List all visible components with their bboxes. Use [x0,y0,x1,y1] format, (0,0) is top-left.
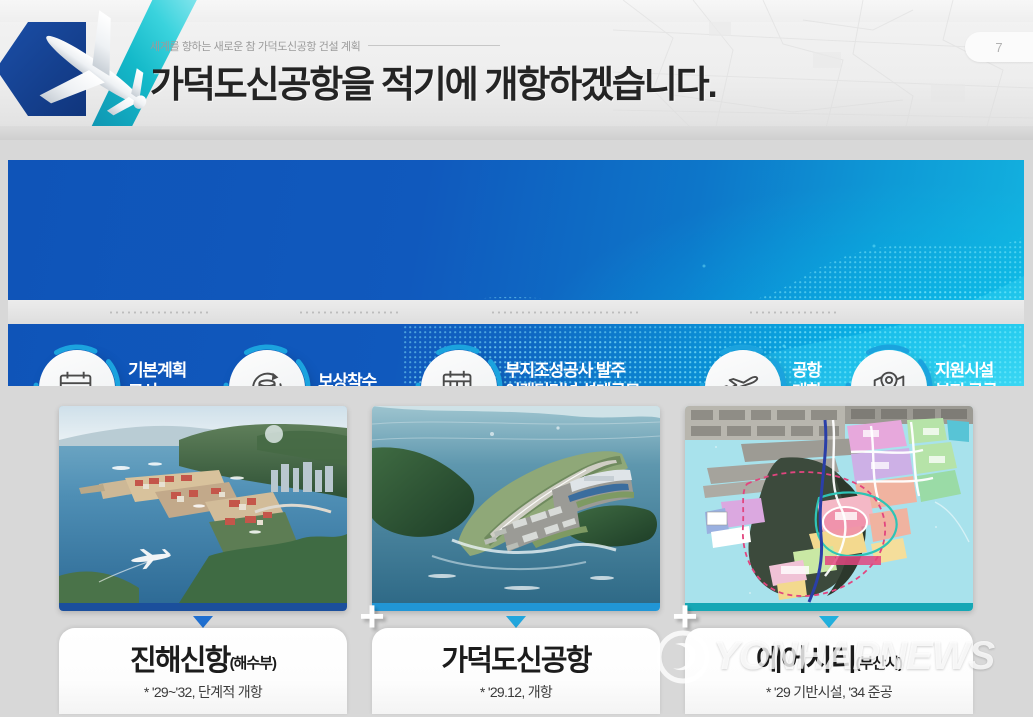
photo-underline [372,603,660,611]
page-title: 가덕도신공항을 적기에 개항하겠습니다. [150,54,716,108]
timeline-node-label: 공항 개항 [792,360,821,386]
air-city-landuse-map [685,406,973,603]
project-caption-note: * '29 기반시설, '34 준공 [685,682,973,702]
timeline-dot-segment [748,311,838,314]
photo-underline [59,603,347,611]
timeline-dot-segment [298,311,398,314]
project-caption-card[interactable]: 가덕도신공항 * '29.12, 개항 [372,628,660,714]
timeline-node-label: 지원시설 부지 공급 [935,360,997,386]
header-subtitle-rule [368,45,500,46]
caption-arrow [193,616,213,628]
header-subtitle: 세계를 향하는 새로운 참 가덕도신공항 건설 계획 [150,38,360,54]
timeline-node-badge[interactable] [229,350,305,386]
timeline-panel: 기본계획 고시 '23.末 [8,160,1024,386]
timeline-node-label: 보상착수 [318,371,376,386]
project-caption-title: 진해신항(해수부) [59,637,347,679]
caption-arrow [819,616,839,628]
project-photo-card[interactable] [59,406,347,611]
timeline-node-label: 기본계획 고시 [128,360,186,386]
timeline-wave-decoration [404,206,1024,386]
airplane-takeoff-icon [722,367,764,386]
jinhae-new-port-rendering [59,406,347,603]
header-bottom-divider [0,126,1033,140]
slide-root: 세계를 향하는 새로운 참 가덕도신공항 건설 계획 가덕도신공항을 적기에 개… [0,0,1033,717]
coins-cycle-icon [246,367,288,386]
caption-arrow [506,616,526,628]
slide-header: 세계를 향하는 새로운 참 가덕도신공항 건설 계획 가덕도신공항을 적기에 개… [0,0,1033,140]
photo-underline [685,603,973,611]
map-pin-icon [868,367,910,386]
project-photo-card[interactable] [372,406,660,611]
calendar-check-icon [56,367,98,386]
project-caption-card[interactable]: 에어시티(부산시) * '29 기반시설, '34 준공 [685,628,973,714]
timeline-node-label: 부지조성공사 발주 여객터미널 설계공모 [505,360,639,386]
project-caption-card[interactable]: 진해신항(해수부) * '29~'32, 단계적 개항 [59,628,347,714]
timeline-dot-segment [108,311,208,314]
gadeokdo-new-airport-rendering [372,406,660,603]
timeline-node-badge[interactable] [39,350,115,386]
project-caption-note: * '29.12, 개항 [372,682,660,702]
project-caption-title: 가덕도신공항 [372,637,660,679]
project-photo-card[interactable] [685,406,973,611]
calendar-plane-icon [438,367,480,386]
project-caption-title: 에어시티(부산시) [685,637,973,679]
timeline-dot-segment [490,311,640,314]
project-caption-note: * '29~'32, 단계적 개항 [59,682,347,702]
page-number: 7 [965,32,1033,62]
